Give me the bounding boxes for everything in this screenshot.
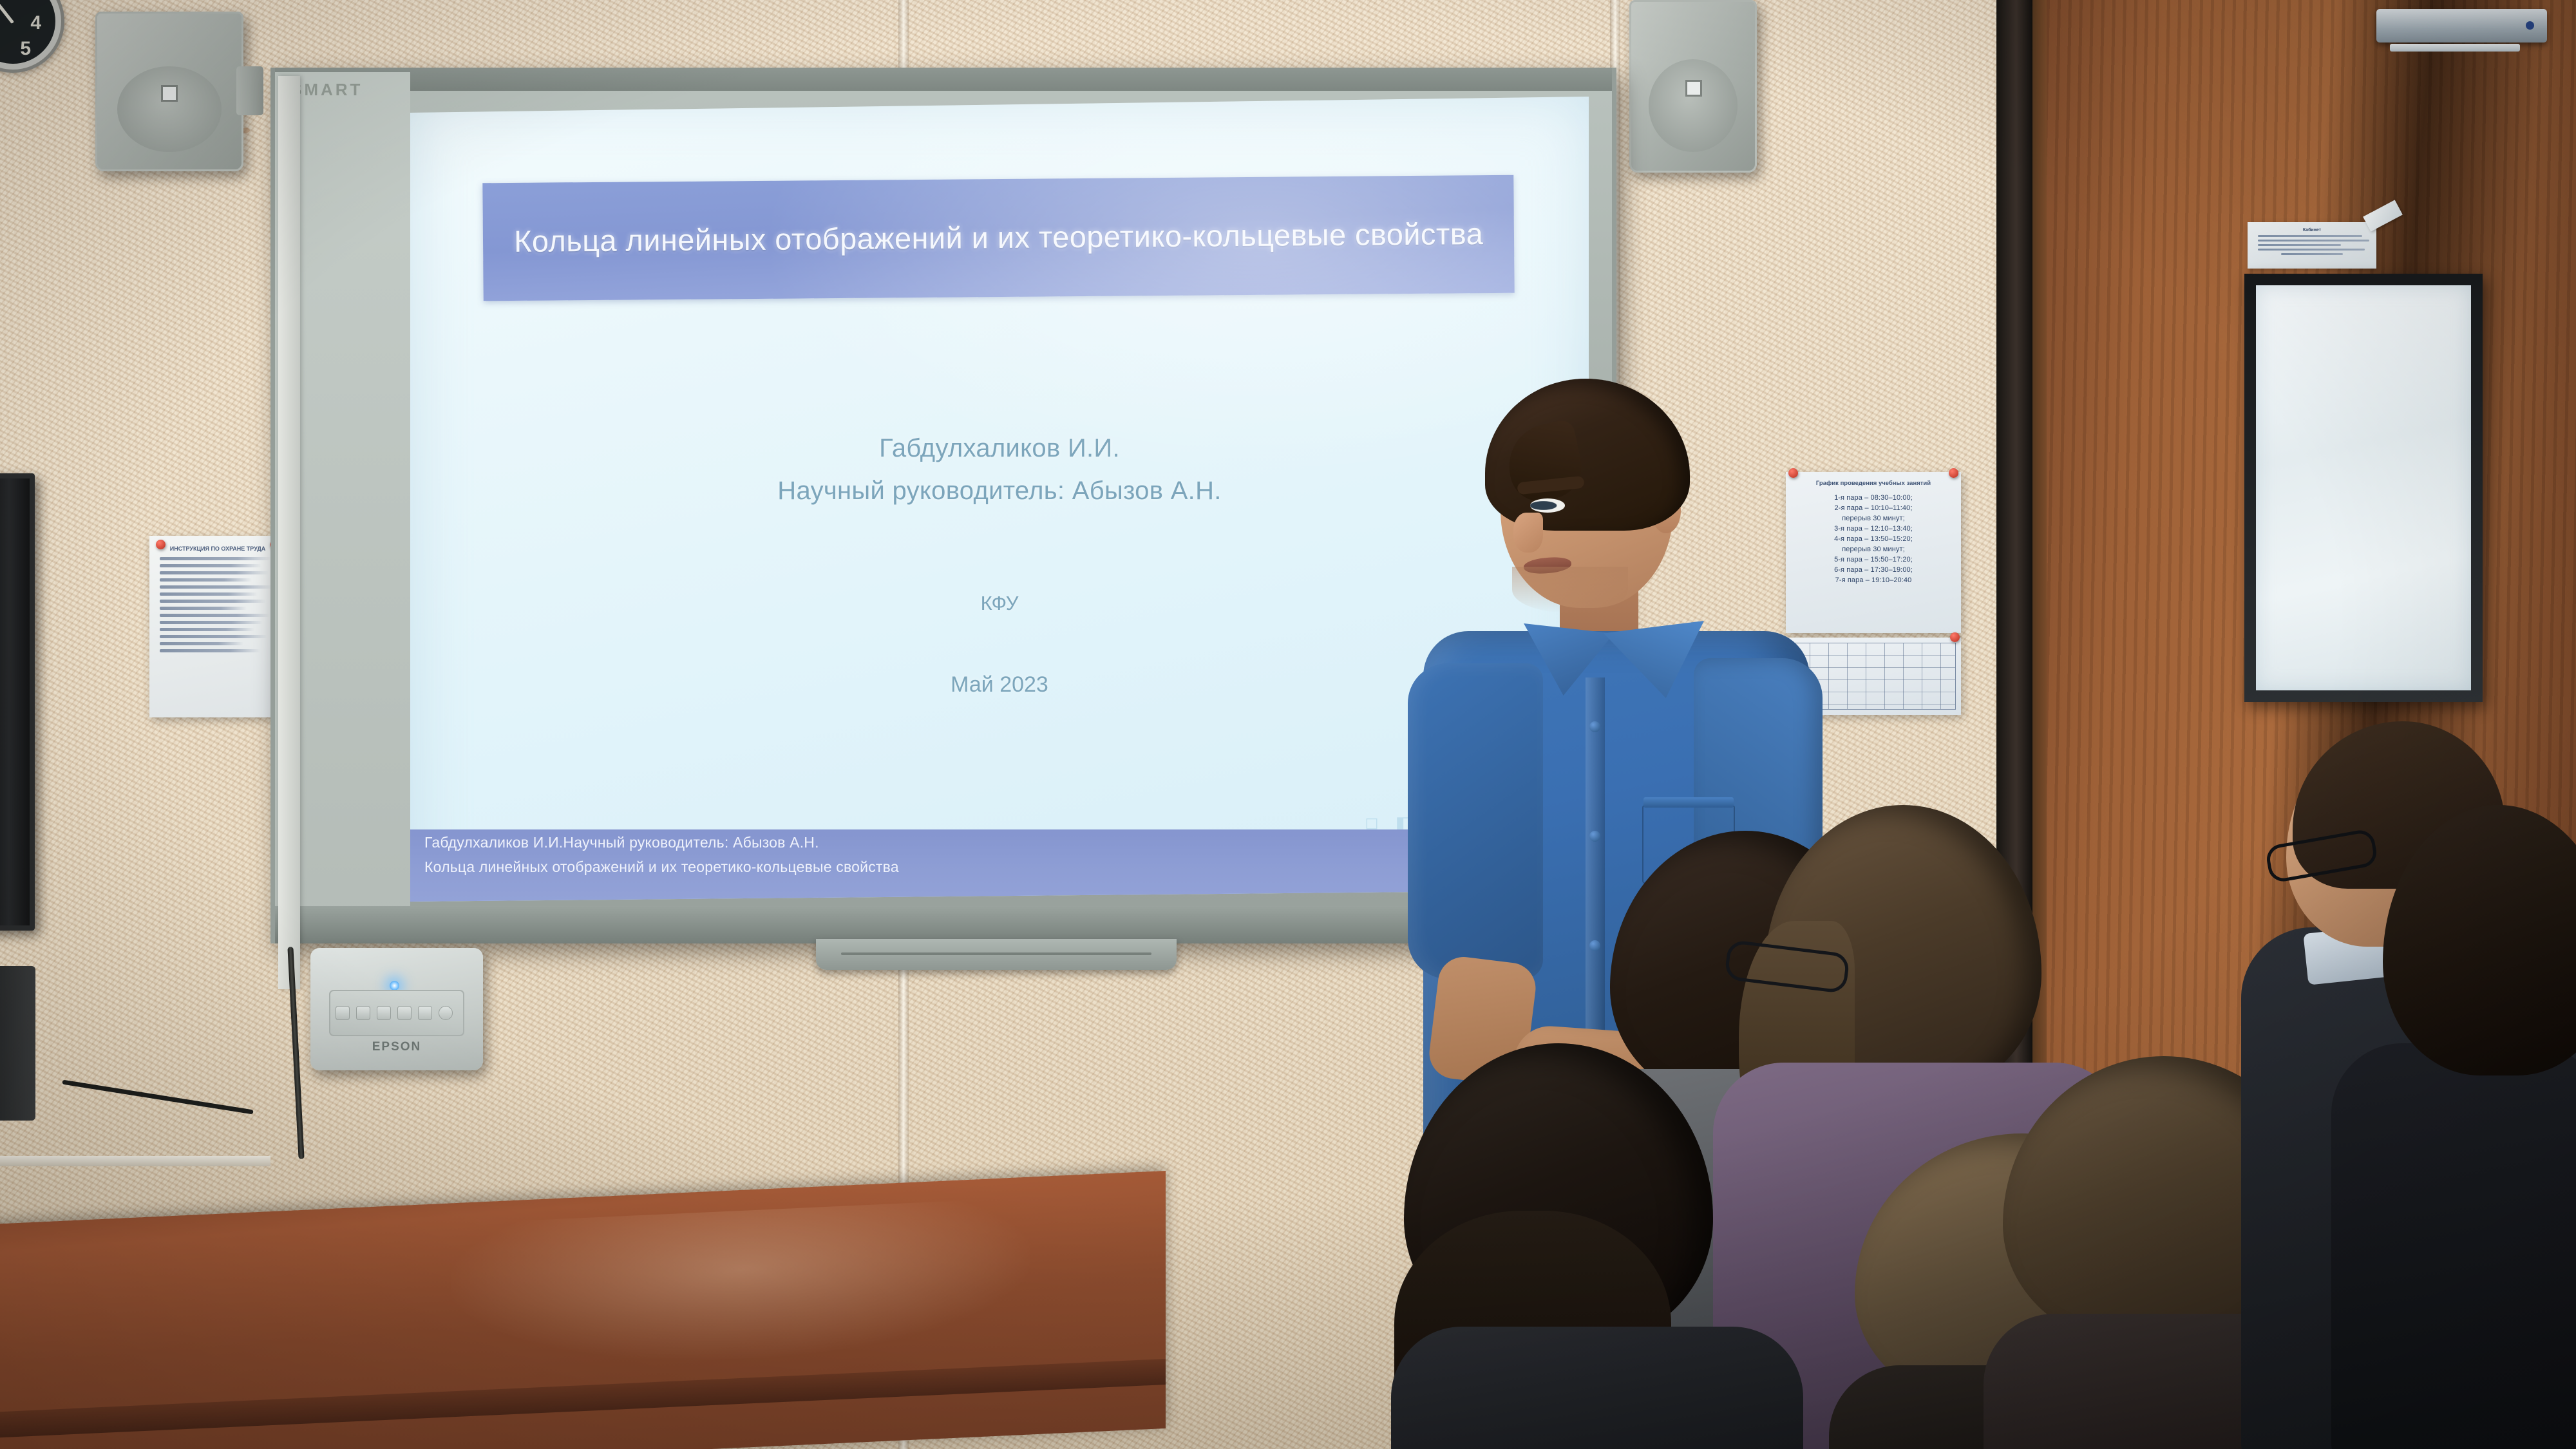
audience-member-6-torso — [2331, 1043, 2576, 1449]
projector-button[interactable] — [356, 1006, 370, 1020]
smart-logo: SMART — [290, 80, 363, 100]
footer-author-line: Габдулхаликов И.И.Научный руководитель: … — [424, 834, 1572, 851]
clock-numeral-5: 5 — [20, 38, 31, 60]
baseboard — [0, 1156, 270, 1166]
projector-button[interactable] — [336, 1006, 350, 1020]
poster-title: ИНСТРУКЦИЯ ПО ОХРАНЕ ТРУДА — [157, 545, 278, 553]
slide-title: Кольца линейных отображений и их теорети… — [514, 212, 1484, 263]
door-handle[interactable] — [2376, 9, 2547, 43]
projector-button[interactable] — [397, 1006, 412, 1020]
projector-knob[interactable] — [439, 1006, 453, 1020]
pushpin-icon — [1949, 468, 1958, 478]
slide-title-band: Кольца линейных отображений и их теорети… — [483, 175, 1515, 300]
plaque-title: Кабинет — [2253, 228, 2371, 232]
clock-numeral-4: 4 — [30, 12, 41, 34]
board-top-rail — [275, 68, 1612, 91]
door-plaque: Кабинет — [2248, 222, 2376, 269]
footer-title-line: Кольца линейных отображений и их теорети… — [424, 858, 1572, 876]
black-monitor — [0, 473, 35, 931]
notice-board-frame — [2244, 274, 2483, 702]
epson-logo: EPSON — [310, 1040, 483, 1054]
notice-sheet — [2256, 285, 2471, 690]
classroom-scene: 4 5 ИНСТРУКЦИЯ ПО ОХРАНЕ ТРУДА SMART К — [0, 0, 2576, 1449]
wall-speaker-left — [95, 12, 243, 171]
safety-rules-poster: ИНСТРУКЦИЯ ПО ОХРАНЕ ТРУДА — [149, 536, 286, 717]
projector-control-panel[interactable] — [329, 990, 464, 1036]
epson-projector[interactable]: EPSON — [310, 948, 483, 1070]
pushpin-icon — [156, 540, 166, 549]
projector-button[interactable] — [418, 1006, 432, 1020]
projector-button[interactable] — [377, 1006, 391, 1020]
audience-member-3-torso — [1391, 1327, 1803, 1449]
pen-tray[interactable] — [816, 939, 1177, 970]
wall-speaker-right — [1629, 0, 1757, 173]
board-left-stand — [278, 76, 300, 989]
monitor-stand — [0, 966, 35, 1121]
pushpin-icon — [1950, 632, 1960, 642]
